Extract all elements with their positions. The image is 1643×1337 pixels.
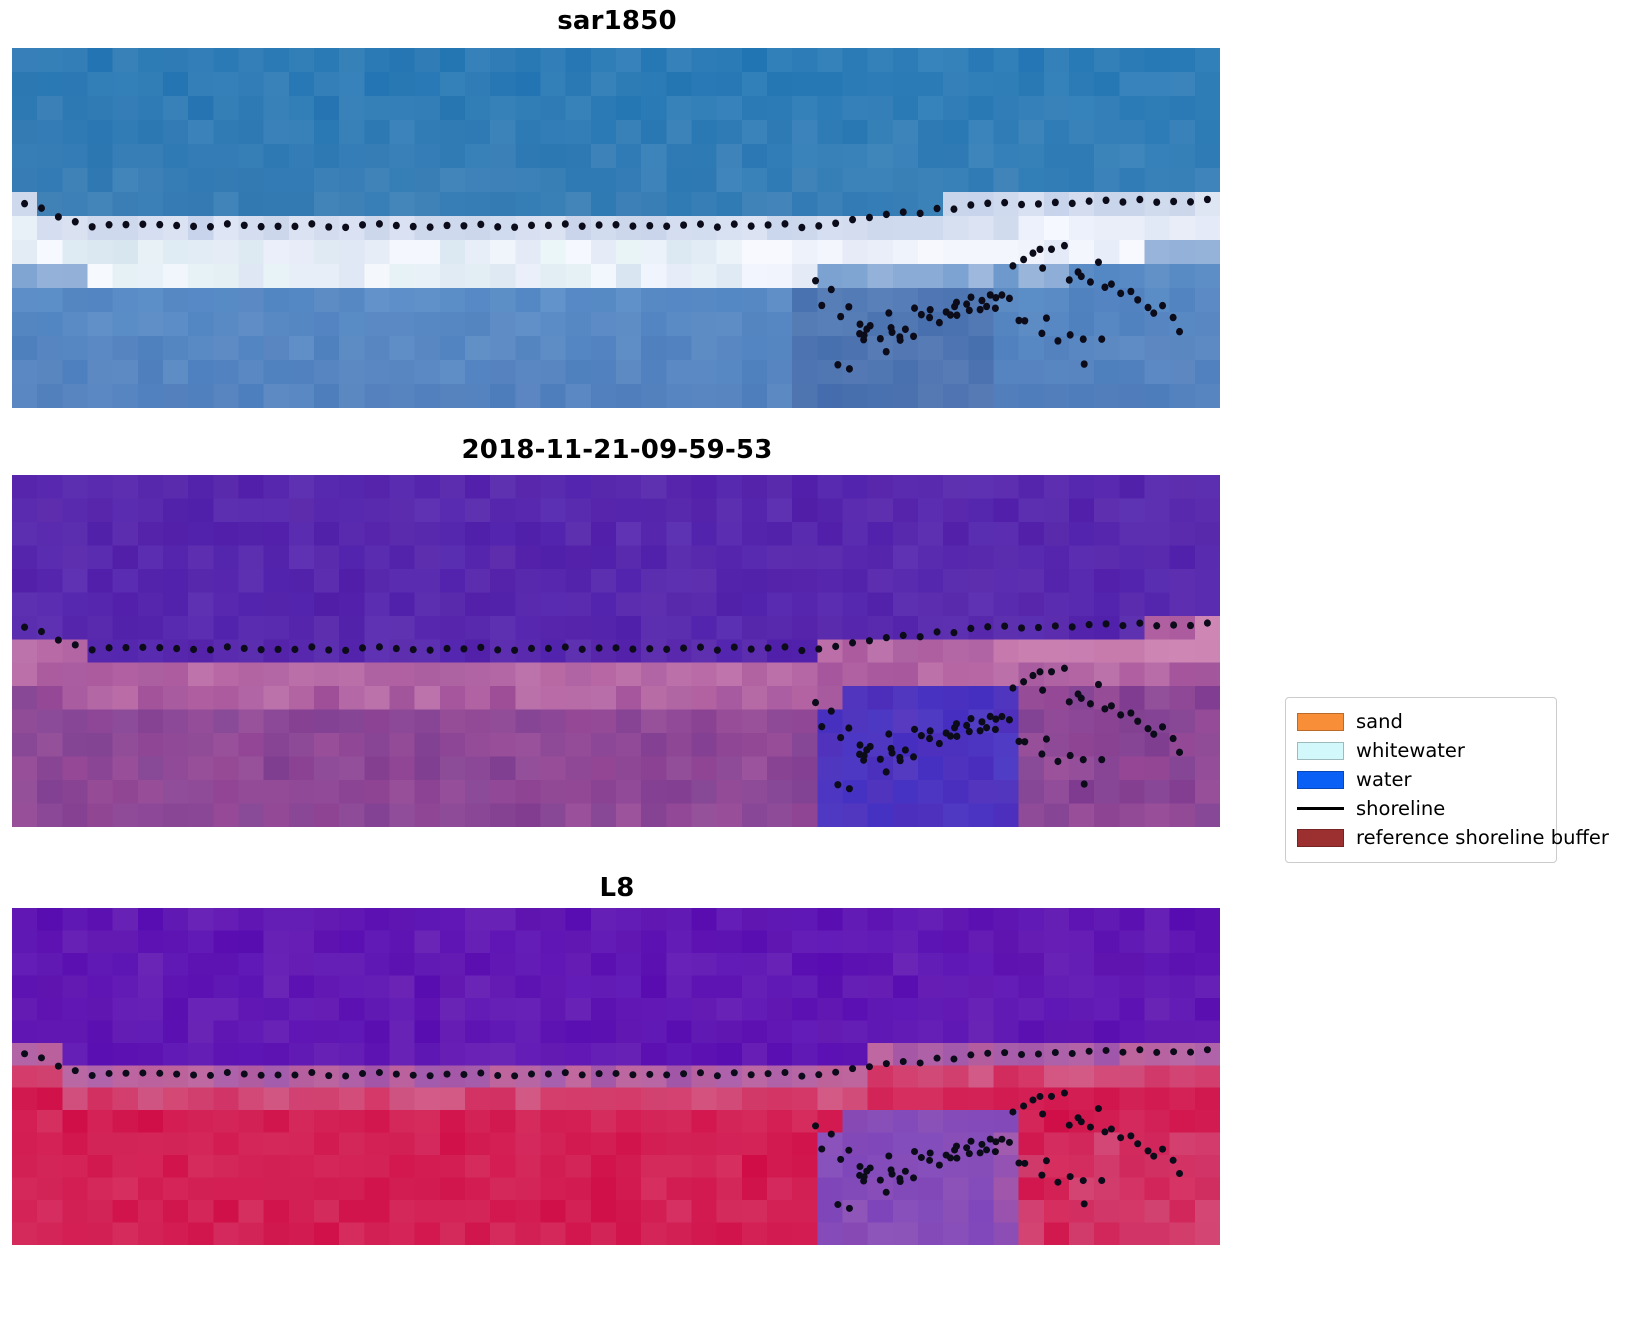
legend-label: sand — [1356, 712, 1403, 732]
panel-title-l8: L8 — [12, 875, 1222, 901]
legend-color-swatch — [1297, 713, 1344, 731]
panel-image-sar — [12, 48, 1220, 408]
l8-raster — [12, 908, 1220, 1245]
legend-label: whitewater — [1356, 741, 1465, 761]
legend-label: reference shoreline buffer — [1356, 828, 1609, 848]
legend-color-swatch — [1297, 771, 1344, 789]
panel-title-classification: 2018-11-21-09-59-53 — [12, 437, 1222, 463]
legend-row-shoreline: shoreline — [1297, 794, 1545, 823]
legend-line-swatch — [1297, 800, 1344, 818]
legend-row-sand: sand — [1297, 707, 1545, 736]
legend-label: water — [1356, 770, 1412, 790]
legend-color-swatch — [1297, 742, 1344, 760]
legend-color-swatch — [1297, 829, 1344, 847]
classification-raster — [12, 475, 1220, 827]
panel-image-l8 — [12, 908, 1220, 1245]
panel-image-classification — [12, 475, 1220, 827]
sar-raster — [12, 48, 1220, 408]
panel-title-sar: sar1850 — [12, 8, 1222, 34]
legend-box: sandwhitewaterwatershorelinereference sh… — [1285, 697, 1557, 863]
legend-row-reference-shoreline-buffer: reference shoreline buffer — [1297, 823, 1545, 852]
figure-canvas: sar1850 2018-11-21-09-59-53 L8 sandwhite… — [0, 0, 1643, 1337]
legend-row-water: water — [1297, 765, 1545, 794]
legend-row-whitewater: whitewater — [1297, 736, 1545, 765]
legend-label: shoreline — [1356, 799, 1445, 819]
